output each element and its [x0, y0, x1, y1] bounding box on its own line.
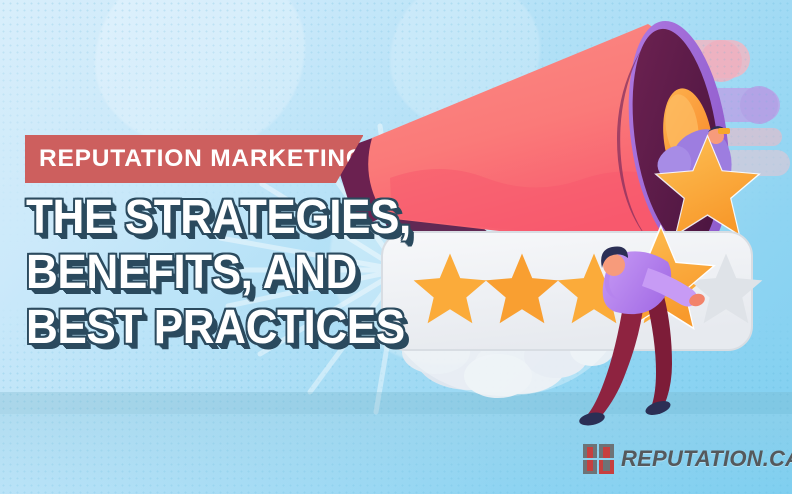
brand-name: REPUTATION.CA: [621, 446, 792, 472]
headline-line-3: BEST PRACTICES: [26, 300, 412, 355]
eyebrow-label: REPUTATION MARKETING:: [25, 145, 375, 173]
brand-logo[interactable]: REPUTATION.CA: [583, 444, 792, 474]
eyebrow-banner: REPUTATION MARKETING:: [25, 135, 363, 183]
page-title: THE STRATEGIES, BENEFITS, AND BEST PRACT…: [26, 190, 446, 355]
featured-image-canvas: REPUTATION MARKETING: THE STRATEGIES, BE…: [0, 0, 792, 494]
reputation-ca-square-grid-mark: [583, 444, 614, 474]
headline-line-2: BENEFITS, AND: [26, 245, 412, 300]
headline-line-1: THE STRATEGIES,: [26, 190, 412, 245]
rider-prop: [718, 128, 730, 134]
